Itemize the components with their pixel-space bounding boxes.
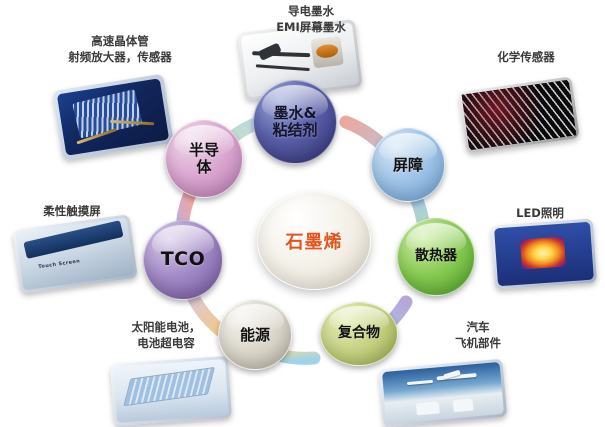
node-tco-label: TCO	[157, 249, 210, 270]
led-lighting-photo	[491, 219, 597, 290]
graphene-applications-diagram: 石墨烯 墨水& 粘结剂 屏障 散热器 复合物 能源 TCO 半导 体 高速晶体管…	[0, 0, 605, 413]
semiconductor-chip-photo-inner	[57, 78, 169, 156]
node-barrier[interactable]: 屏障	[371, 128, 445, 202]
center-node-label: 石墨烯	[286, 228, 343, 254]
chemical-sensor-photo-inner	[462, 80, 577, 150]
caption-flexible-touchscreen: 柔性触摸屏	[14, 204, 130, 220]
caption-semiconductor: 高速晶体管 射频放大器，传感器	[50, 34, 190, 65]
led-thermal-graphic	[520, 236, 566, 269]
node-semiconductor-label: 半导 体	[185, 142, 223, 176]
flexible-touchscreen-photo: Touch Screen	[12, 214, 138, 294]
caption-automotive-aircraft: 汽车 飞机部件	[432, 320, 524, 351]
solar-panel-photo-inner	[113, 359, 229, 423]
solar-panel-photo	[110, 356, 232, 426]
solar-array-graphic	[124, 367, 215, 406]
ink-trace-c	[257, 42, 282, 61]
ink-trace-b	[256, 64, 310, 71]
chemical-sensor-photo	[458, 76, 580, 153]
caption-chemical-sensor: 化学传感器	[468, 50, 584, 66]
node-heat-sink[interactable]: 散热器	[397, 218, 475, 296]
caption-conductive-ink: 导电墨水 EMI屏幕墨水	[236, 4, 386, 35]
car-graphic-b	[453, 399, 474, 412]
touchscreen-device-text: Touch Screen	[38, 258, 81, 270]
node-composites[interactable]: 复合物	[320, 302, 398, 366]
airplane-graphic-b	[407, 380, 433, 385]
touchscreen-panel-graphic	[23, 220, 123, 259]
node-ink-adhesive-label: 墨水& 粘结剂	[268, 105, 321, 139]
node-energy-label: 能源	[236, 327, 274, 344]
node-ink-adhesive[interactable]: 墨水& 粘结剂	[253, 80, 337, 164]
led-lighting-photo-inner	[494, 222, 594, 287]
node-energy[interactable]: 能源	[218, 300, 292, 370]
automotive-aircraft-photo-inner	[382, 362, 504, 424]
ink-jar-graphic	[311, 36, 343, 68]
node-semiconductor[interactable]: 半导 体	[165, 120, 243, 198]
center-node-graphene[interactable]: 石墨烯	[257, 192, 371, 290]
automotive-aircraft-photo	[379, 359, 508, 427]
node-heat-sink-label: 散热器	[411, 249, 461, 265]
node-composites-label: 复合物	[334, 326, 384, 342]
car-graphic-a	[416, 402, 441, 415]
caption-led-lighting: LED照明	[494, 206, 586, 222]
flexible-touchscreen-photo-inner: Touch Screen	[16, 217, 135, 290]
node-tco[interactable]: TCO	[143, 220, 223, 300]
caption-solar-battery: 太阳能电池， 电池超电容	[104, 320, 228, 351]
node-barrier-label: 屏障	[389, 157, 427, 174]
honeycomb-lattice-graphic	[462, 80, 577, 150]
